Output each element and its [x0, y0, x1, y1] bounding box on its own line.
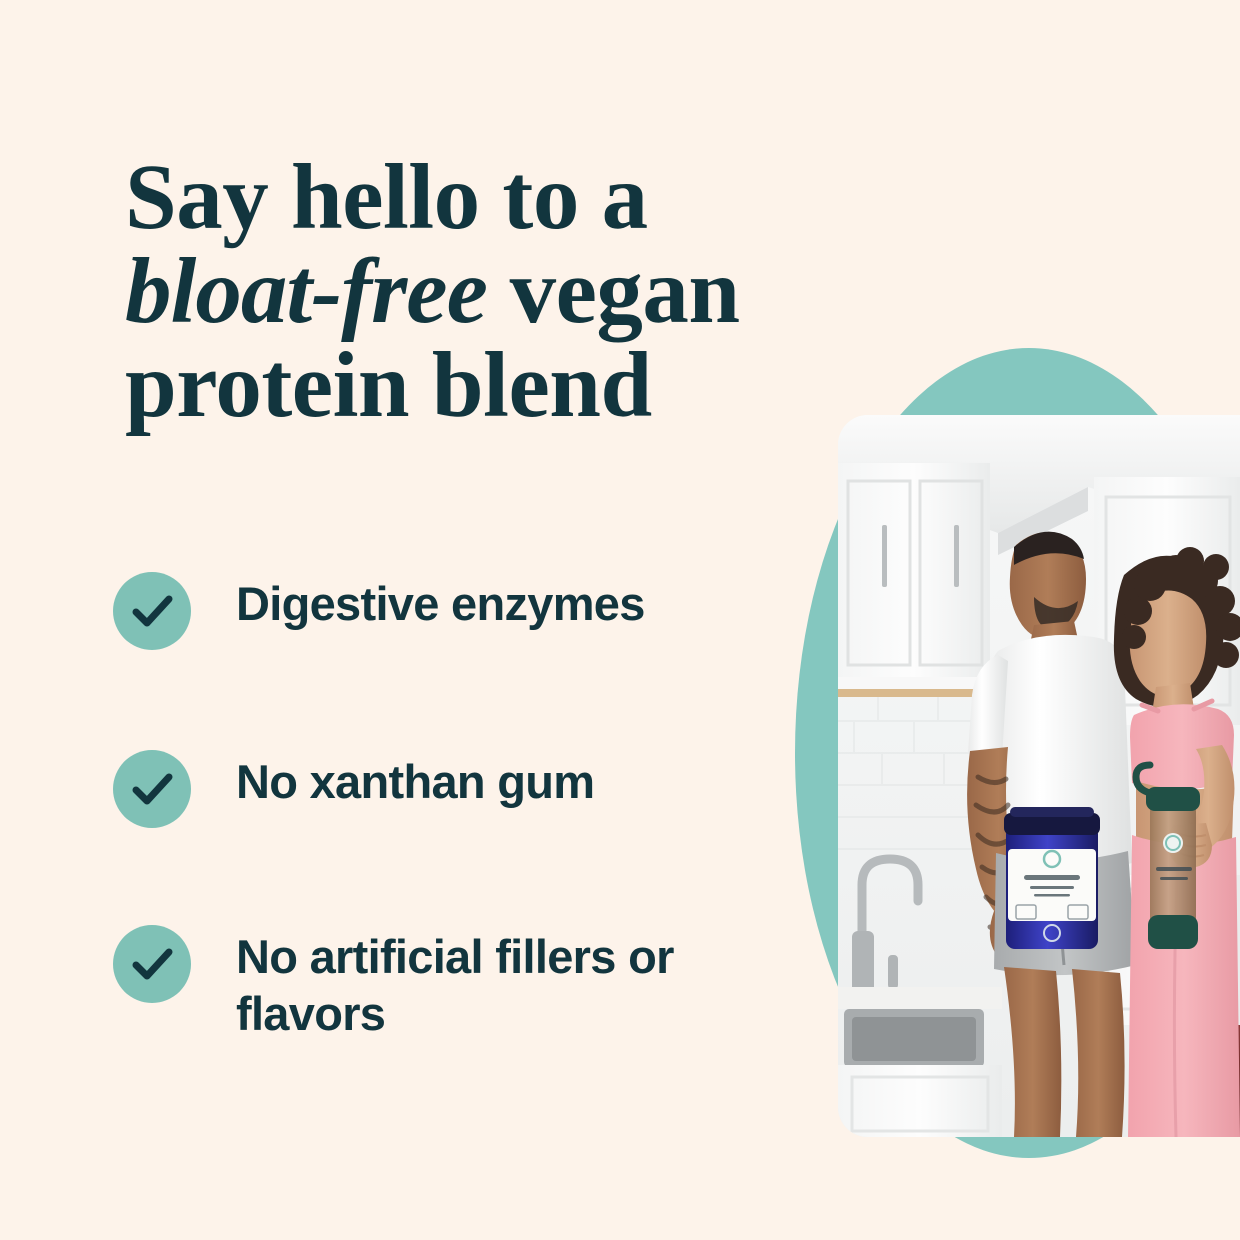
headline-line-3: protein blend	[125, 340, 885, 432]
checkmark-icon	[113, 925, 191, 1003]
list-item-label: Digestive enzymes	[236, 572, 796, 632]
checkmark-icon	[113, 572, 191, 650]
list-item: Digestive enzymes	[113, 572, 813, 650]
feature-checklist: Digestive enzymes No xanthan gum No arti…	[113, 572, 813, 1043]
list-item: No artificial fillers or flavors	[113, 925, 813, 1043]
headline-line-2: bloat-free vegan	[125, 246, 885, 338]
list-item: No xanthan gum	[113, 750, 813, 828]
lifestyle-photo	[838, 415, 1240, 1137]
headline-line-1: Say hello to a	[125, 152, 885, 244]
list-item-label: No xanthan gum	[236, 750, 796, 810]
list-item-label: No artificial fillers or flavors	[236, 925, 796, 1043]
headline-emphasis: bloat-free	[125, 240, 487, 343]
headline-line-2-rest: vegan	[487, 240, 740, 343]
checkmark-icon	[113, 750, 191, 828]
protein-jar	[1004, 807, 1100, 949]
marketing-banner: Say hello to a bloat-free vegan protein …	[0, 0, 1240, 1240]
page-title: Say hello to a bloat-free vegan protein …	[125, 152, 885, 432]
